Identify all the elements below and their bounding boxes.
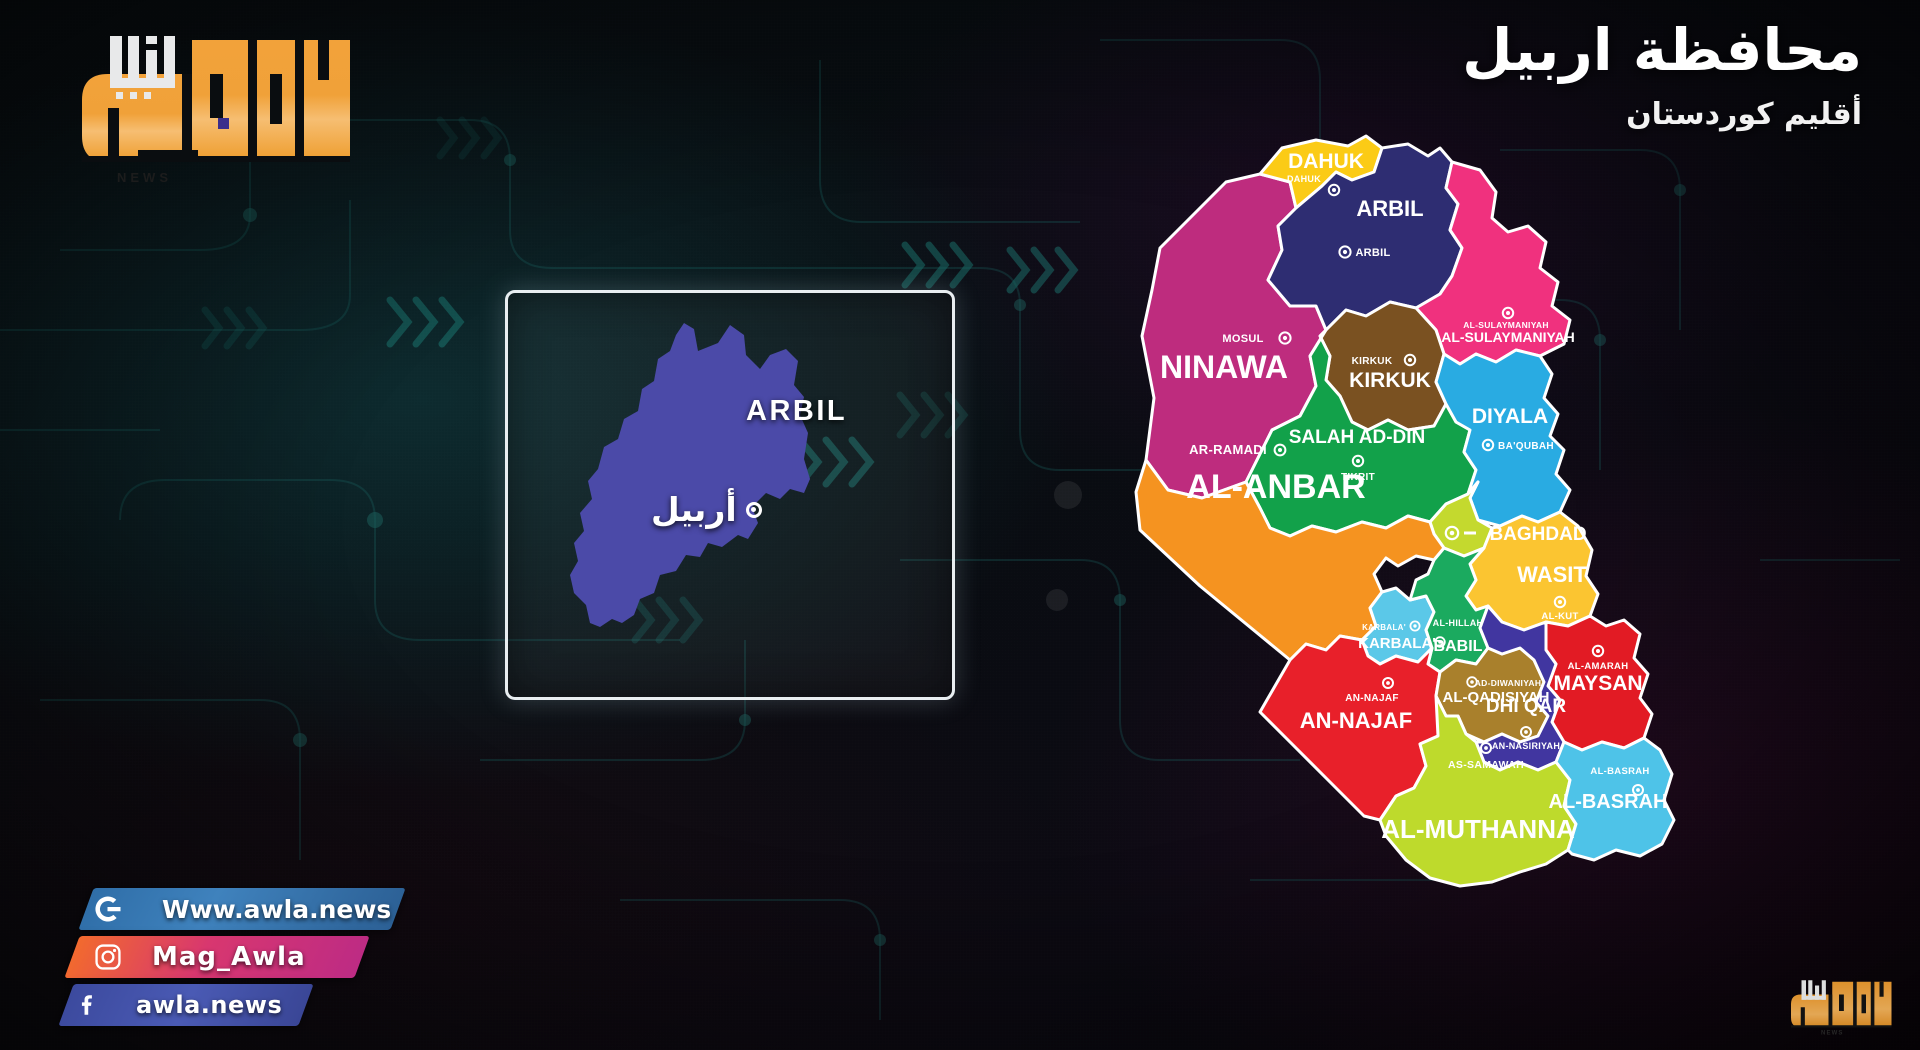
label-dhi-qar: DHI QAR (1486, 696, 1567, 717)
brand-logo-mark (42, 22, 362, 182)
label-an-najaf: AN-NAJAF (1300, 708, 1412, 733)
svg-text:AN-NAJAF: AN-NAJAF (1345, 693, 1399, 704)
label-dahuk: DAHUK (1288, 150, 1364, 173)
social-row-facebook[interactable]: awla.news (52, 984, 432, 1026)
svg-text:BA'QUBAH: BA'QUBAH (1498, 441, 1554, 452)
inset-capital-label: أربيل (651, 490, 737, 529)
svg-text:AL-HILLAH: AL-HILLAH (1433, 618, 1484, 628)
inset-capital-marker: أربيل (651, 490, 762, 529)
svg-text:DAHUK: DAHUK (1287, 174, 1321, 184)
svg-text:AN-NASIRIYAH: AN-NASIRIYAH (1492, 741, 1560, 751)
svg-text:AL-SULAYMANIYAH: AL-SULAYMANIYAH (1463, 320, 1549, 330)
svg-text:KARBALA': KARBALA' (1362, 623, 1406, 632)
social-links: Www.awla.news Mag_Awla awla.news (52, 888, 432, 1032)
svg-text:ARBIL: ARBIL (1355, 247, 1390, 259)
svg-text:AR-RAMADI: AR-RAMADI (1189, 442, 1267, 457)
label-karbala: KARBALA' (1358, 635, 1436, 652)
header: محافظة اربيل أقليم كوردستان (1462, 18, 1862, 132)
label-al-anbar: AL-ANBAR (1186, 468, 1365, 506)
facebook-label: awla.news (136, 991, 282, 1019)
watermark-news-text: NEWS (1821, 1030, 1844, 1036)
page-subtitle: أقليم كوردستان (1462, 97, 1862, 132)
brand-logo[interactable]: NEWS (42, 22, 362, 182)
iraq-governorates-map[interactable]: DAHUK DAHUK NINAWA MOSUL ARBIL ARBIL AL-… (1140, 130, 1920, 920)
svg-text:AL-AMARAH: AL-AMARAH (1568, 661, 1629, 672)
capital-dot-icon (746, 502, 762, 518)
label-al-basrah: AL-BASRAH (1549, 791, 1668, 813)
logo-news-text: NEWS (117, 170, 172, 185)
inset-region-label: ARBIL (746, 395, 847, 428)
svg-text:MOSUL: MOSUL (1222, 333, 1263, 345)
arbil-province-shape (570, 323, 810, 627)
label-al-sulaymaniyah: AL-SULAYMANIYAH (1441, 329, 1575, 345)
logo-dot (218, 118, 229, 129)
svg-text:AL-KUT: AL-KUT (1541, 611, 1578, 622)
facebook-icon (66, 984, 110, 1026)
instagram-icon (80, 936, 136, 978)
google-icon (80, 888, 136, 930)
label-salah-ad-din: SALAH AD-DIN (1289, 427, 1426, 448)
social-row-instagram[interactable]: Mag_Awla (52, 936, 432, 978)
label-al-muthanna: AL-MUTHANNA (1381, 814, 1575, 844)
arbil-inset-panel[interactable]: ARBIL أربيل (505, 290, 955, 700)
svg-text:AD-DIWANIYAH: AD-DIWANIYAH (1475, 678, 1542, 688)
capital-ad-diwaniyah: AD-DIWANIYAH (1467, 677, 1541, 688)
label-kirkuk: KIRKUK (1349, 369, 1431, 392)
corner-watermark-logo: NEWS (1776, 972, 1896, 1038)
label-baghdad: BAGHDAD (1489, 524, 1586, 545)
page-title: محافظة اربيل (1462, 18, 1862, 83)
label-maysan: MAYSAN (1553, 672, 1642, 695)
label-ninawa: NINAWA (1160, 349, 1288, 385)
label-diyala: DIYALA (1472, 405, 1548, 428)
svg-text:KIRKUK: KIRKUK (1352, 356, 1393, 367)
svg-text:AS-SAMAWAH: AS-SAMAWAH (1448, 759, 1524, 771)
svg-text:AL-BASRAH: AL-BASRAH (1590, 766, 1649, 777)
label-arbil: ARBIL (1356, 196, 1423, 221)
social-row-website[interactable]: Www.awla.news (52, 888, 432, 930)
label-wasit: WASIT (1517, 562, 1587, 587)
website-label: Www.awla.news (162, 895, 391, 924)
instagram-label: Mag_Awla (152, 942, 306, 972)
